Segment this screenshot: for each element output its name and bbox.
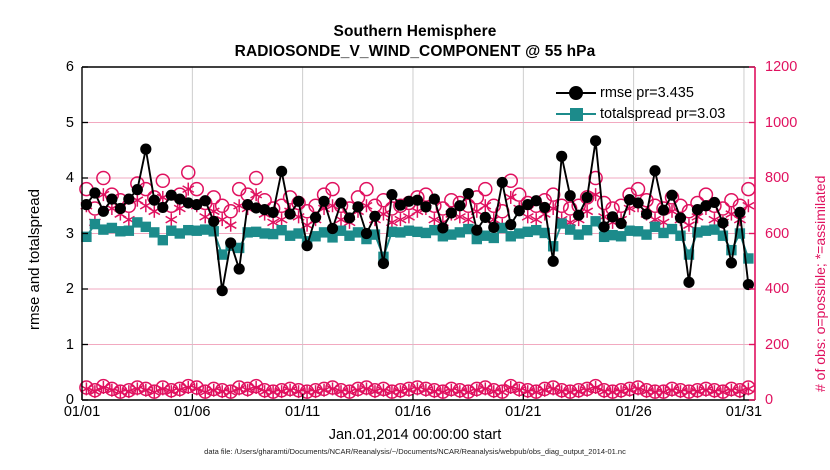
legend-entry[interactable]: totalspread pr=3.03: [556, 103, 725, 124]
rmse-marker: [268, 207, 279, 218]
rmse-marker: [471, 225, 482, 236]
rmse-marker: [666, 190, 677, 201]
rmse-marker: [284, 208, 295, 219]
legend-square-icon: [570, 108, 583, 121]
y-axis-left-tick-label: 4: [34, 170, 74, 186]
rmse-marker: [590, 135, 601, 146]
rmse-marker: [157, 202, 168, 213]
y-axis-right-tick-label: 0: [765, 392, 813, 408]
rmse-marker: [437, 222, 448, 233]
y-axis-right-tick-label: 800: [765, 170, 813, 186]
rmse-marker: [548, 256, 559, 267]
rmse-marker: [200, 195, 211, 206]
legend-entry[interactable]: rmse pr=3.435: [556, 82, 725, 103]
rmse-marker: [335, 197, 346, 208]
y-axis-right-tick-label: 1200: [765, 59, 813, 75]
rmse-marker: [106, 193, 117, 204]
rmse-marker: [683, 277, 694, 288]
legend-label: rmse pr=3.435: [600, 85, 694, 101]
y-axis-left-tick-label: 1: [34, 337, 74, 353]
rmse-marker: [301, 240, 312, 251]
rmse-marker: [140, 144, 151, 155]
rmse-marker: [234, 263, 245, 274]
x-axis-tick-label: 01/31: [726, 404, 762, 420]
rmse-marker: [132, 184, 143, 195]
rmse-marker: [658, 205, 669, 216]
rmse-marker: [361, 228, 372, 239]
rmse-marker: [505, 219, 516, 230]
rmse-marker: [89, 187, 100, 198]
x-axis-label: Jan.01,2014 00:00:00 start: [0, 427, 830, 443]
rmse-marker: [369, 211, 380, 222]
rmse-marker: [709, 197, 720, 208]
rmse-marker: [429, 193, 440, 204]
obs-possible-marker: [479, 183, 492, 196]
x-axis-tick-label: 01/16: [395, 404, 431, 420]
rmse-marker: [149, 195, 160, 206]
rmse-marker: [446, 207, 457, 218]
rmse-marker: [454, 200, 465, 211]
rmse-marker: [98, 206, 109, 217]
totalspread-marker: [489, 233, 499, 243]
rmse-marker: [352, 201, 363, 212]
rmse-marker: [717, 217, 728, 228]
x-axis-tick-label: 01/11: [285, 404, 320, 420]
rmse-marker: [582, 192, 593, 203]
rmse-marker: [497, 177, 508, 188]
legend-circle-icon: [569, 86, 583, 100]
rmse-marker: [293, 196, 304, 207]
y-axis-right-tick-label: 400: [765, 281, 813, 297]
obs-assimilated-marker: [166, 213, 177, 226]
y-axis-right-tick-label: 600: [765, 226, 813, 242]
rmse-marker: [734, 207, 745, 218]
obs-assimilated-marker: [225, 219, 236, 232]
rmse-marker: [615, 218, 626, 229]
y-axis-left-tick-label: 6: [34, 59, 74, 75]
rmse-marker: [225, 237, 236, 248]
chart-legend: rmse pr=3.435totalspread pr=3.03: [556, 82, 725, 124]
rmse-marker: [675, 212, 686, 223]
legend-swatch-square-icon: [556, 105, 596, 123]
rmse-marker: [420, 201, 431, 212]
rmse-marker: [327, 223, 338, 234]
rmse-marker: [556, 151, 567, 162]
legend-label: totalspread pr=3.03: [600, 106, 725, 122]
rmse-marker: [318, 196, 329, 207]
legend-swatch-circle-icon: [556, 84, 596, 102]
rmse-marker: [632, 197, 643, 208]
rmse-marker: [488, 222, 499, 233]
y-axis-left-tick-label: 2: [34, 281, 74, 297]
x-axis-tick-label: 01/21: [505, 404, 541, 420]
totalspread-marker: [158, 235, 168, 245]
rmse-marker: [310, 212, 321, 223]
rmse-marker: [539, 202, 550, 213]
obs-possible-marker: [182, 166, 195, 179]
y-axis-right-tick-label: 200: [765, 337, 813, 353]
y-axis-left-tick-label: 3: [34, 226, 74, 242]
rmse-marker: [276, 166, 287, 177]
x-axis-tick-label: 01/26: [615, 404, 651, 420]
rmse-marker: [573, 210, 584, 221]
rmse-marker: [641, 208, 652, 219]
x-axis-tick-label: 01/06: [174, 404, 210, 420]
obs-possible-marker: [156, 174, 169, 187]
rmse-marker: [649, 165, 660, 176]
y-axis-right-tick-label: 1000: [765, 115, 813, 131]
rmse-marker: [123, 193, 134, 204]
chart-figure: Southern Hemisphere RADIOSONDE_V_WIND_CO…: [0, 0, 830, 470]
rmse-marker: [463, 188, 474, 199]
rmse-marker: [217, 285, 228, 296]
y-axis-left-tick-label: 5: [34, 115, 74, 131]
rmse-marker: [344, 212, 355, 223]
rmse-marker: [378, 258, 389, 269]
rmse-marker: [208, 216, 219, 227]
rmse-marker: [565, 190, 576, 201]
rmse-marker: [599, 221, 610, 232]
obs-possible-marker: [360, 183, 373, 196]
x-axis-tick-label: 01/01: [64, 404, 100, 420]
data-file-note: data file: /Users/gharamti/Documents/NCA…: [0, 447, 830, 456]
rmse-marker: [386, 189, 397, 200]
plot-canvas: [0, 0, 830, 470]
totalspread-marker: [582, 225, 592, 235]
rmse-marker: [115, 203, 126, 214]
rmse-marker: [480, 212, 491, 223]
rmse-marker: [726, 257, 737, 268]
